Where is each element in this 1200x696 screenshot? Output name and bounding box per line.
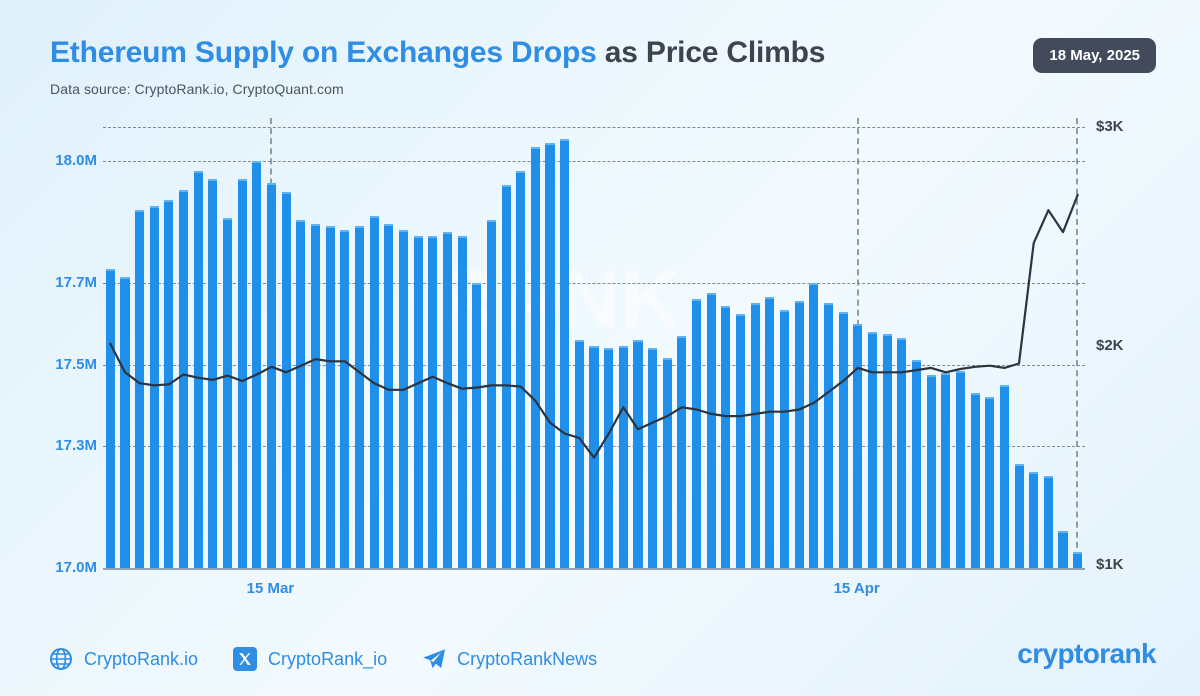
- date-badge: 18 May, 2025: [1033, 38, 1156, 73]
- footer-link-website[interactable]: CryptoRank.io: [48, 646, 198, 672]
- cryptorank-logo: cryptorank: [1017, 638, 1156, 670]
- chart-canvas: Ethereum Supply on Exchanges Drops as Pr…: [0, 0, 1200, 696]
- data-source-subtitle: Data source: CryptoRank.io, CryptoQuant.…: [50, 81, 344, 97]
- x-twitter-icon: [232, 646, 258, 672]
- x-axis-tick: 15 Apr: [834, 580, 880, 597]
- footer-link-telegram-label: CryptoRankNews: [457, 649, 597, 670]
- footer-link-x[interactable]: CryptoRank_io: [232, 646, 387, 672]
- title-plain: as Price Climbs: [597, 36, 826, 69]
- plot-area: [103, 118, 1085, 568]
- y-axis-left-tick: 17.5M: [45, 356, 97, 373]
- y-axis-left-tick: 17.7M: [45, 274, 97, 291]
- telegram-icon: [421, 646, 447, 672]
- page-title: Ethereum Supply on Exchanges Drops as Pr…: [50, 36, 825, 70]
- footer-link-website-label: CryptoRank.io: [84, 649, 198, 670]
- y-axis-right-tick: $2K: [1096, 337, 1124, 354]
- cryptorank-logo-text: cryptorank: [1017, 638, 1156, 670]
- y-axis-left-tick: 17.3M: [45, 437, 97, 454]
- globe-icon: [48, 646, 74, 672]
- y-axis-left-tick: 17.0M: [45, 559, 97, 576]
- y-axis-right-tick: $1K: [1096, 556, 1124, 573]
- footer-links: CryptoRank.io CryptoRank_io CryptoRankNe…: [48, 646, 597, 672]
- title-highlight: Ethereum Supply on Exchanges Drops: [50, 36, 597, 69]
- footer-link-telegram[interactable]: CryptoRankNews: [421, 646, 597, 672]
- x-axis-tick: 15 Mar: [247, 580, 295, 597]
- y-axis-left-tick: 18.0M: [45, 152, 97, 169]
- x-axis-baseline: [103, 568, 1085, 570]
- footer-link-x-label: CryptoRank_io: [268, 649, 387, 670]
- y-axis-right-tick: $3K: [1096, 118, 1124, 135]
- price-line-series: [103, 118, 1085, 568]
